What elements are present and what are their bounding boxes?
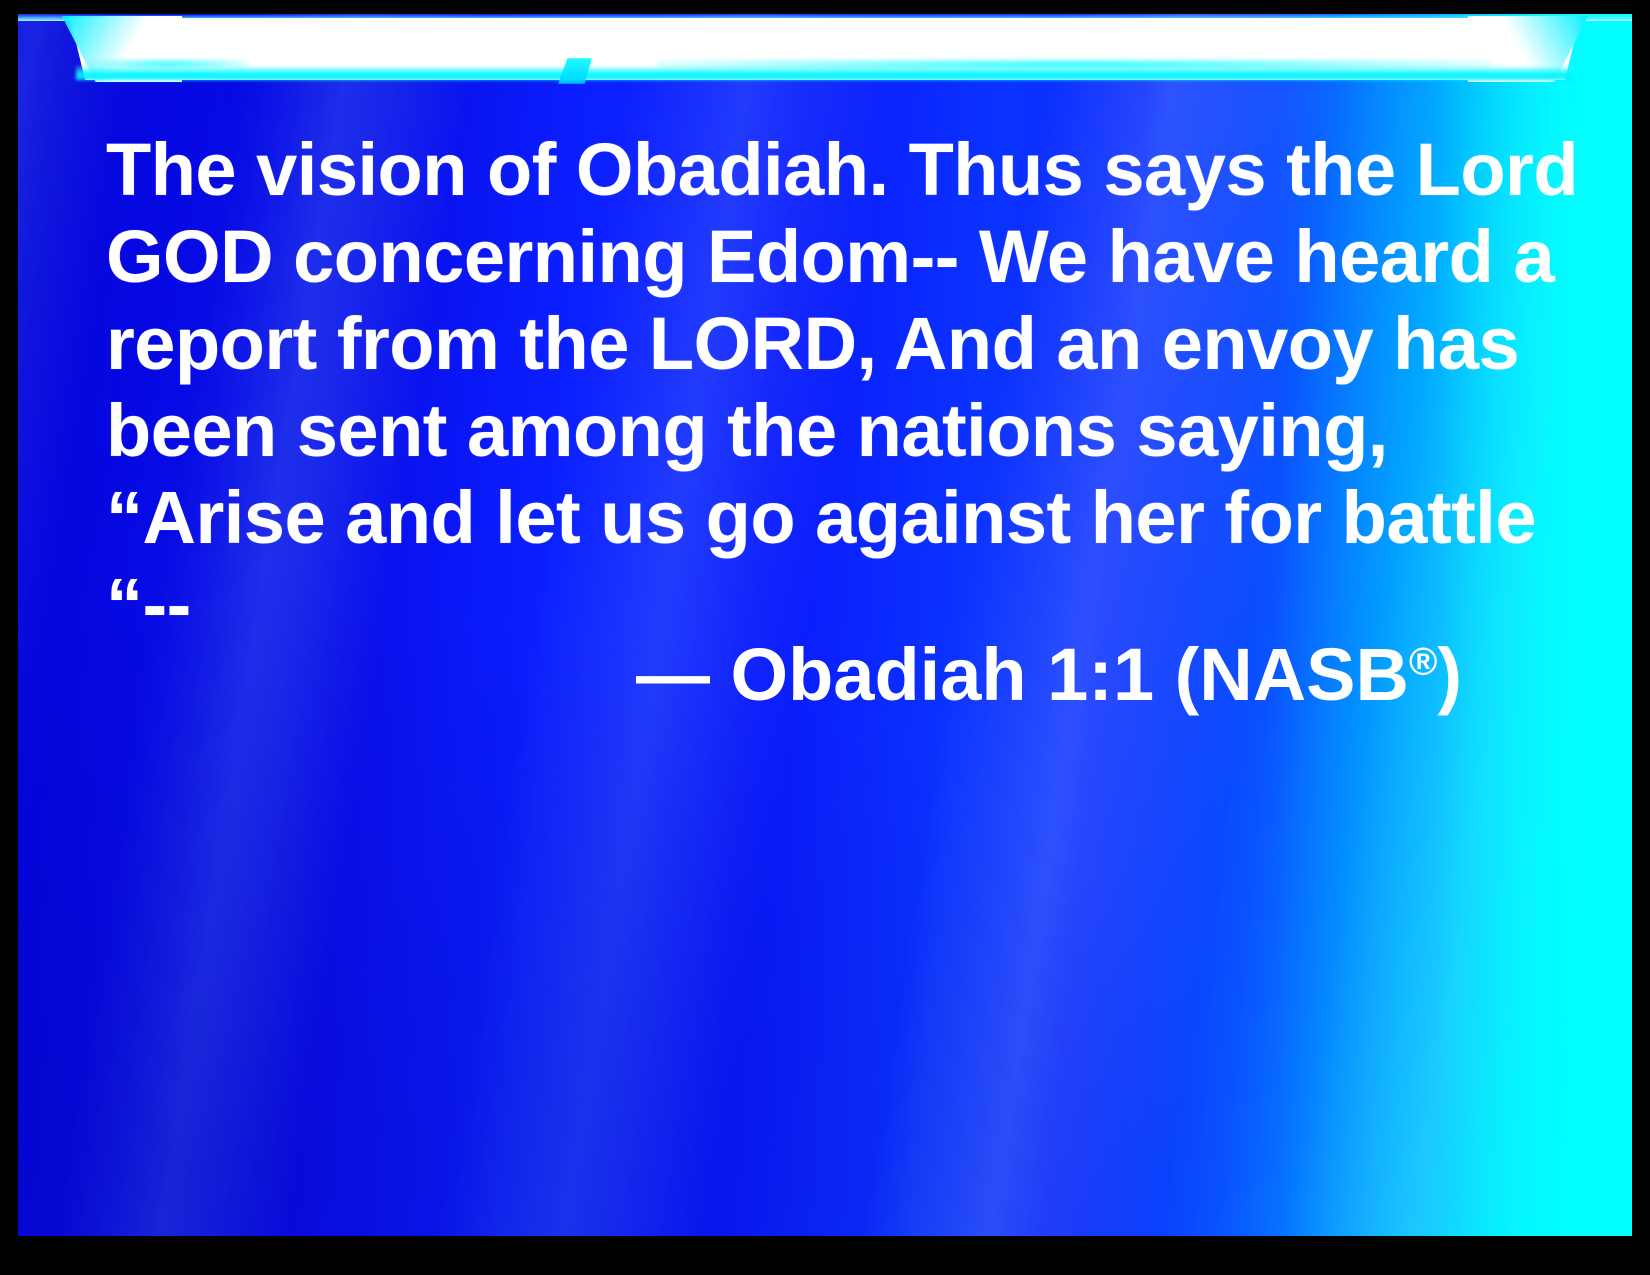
verse-line-5: “Arise and let us go against her for bat… [106, 474, 1506, 561]
registered-trademark-icon: ® [1409, 640, 1437, 683]
slide-panel: The vision of Obadiah. Thus says the Lor… [18, 14, 1632, 1236]
attribution-suffix: ) [1437, 633, 1462, 716]
attribution-prefix: — Obadiah 1:1 (NASB [636, 633, 1409, 716]
scripture-slide: The vision of Obadiah. Thus says the Lor… [0, 0, 1650, 1275]
verse-attribution: — Obadiah 1:1 (NASB®) [18, 632, 1462, 718]
verse-line-4: been sent among the nations saying, [106, 387, 1506, 474]
verse-line-1: The vision of Obadiah. Thus says the Lor… [106, 126, 1506, 213]
verse-line-2: GOD concerning Edom-- We have heard a [106, 213, 1506, 300]
verse-text-block: The vision of Obadiah. Thus says the Lor… [106, 126, 1506, 648]
verse-line-3: report from the LORD, And an envoy has [106, 300, 1506, 387]
